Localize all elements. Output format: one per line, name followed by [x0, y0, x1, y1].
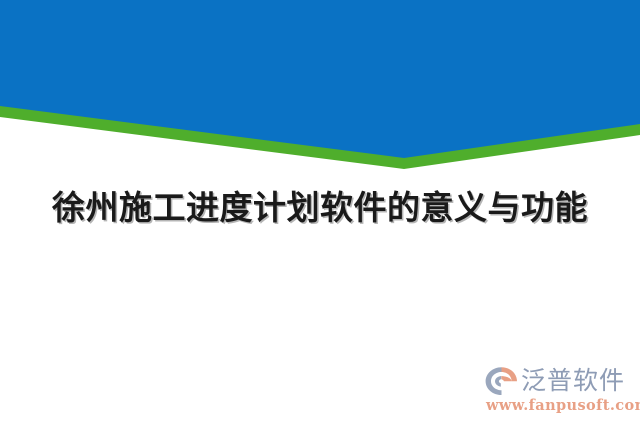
- brand-logo: 泛普软件 www.fanpusoft.com: [484, 364, 632, 422]
- brand-logo-row: 泛普软件: [484, 364, 625, 398]
- banner-blue-shape: [0, 0, 640, 158]
- brand-name: 泛普软件: [521, 367, 625, 395]
- page-title-container: 徐州施工进度计划软件的意义与功能: [0, 186, 640, 230]
- banner-green-stripe: [0, 0, 640, 169]
- brand-website: www.fanpusoft.com: [486, 397, 640, 415]
- page-title: 徐州施工进度计划软件的意义与功能: [52, 186, 588, 230]
- fanpu-wave-icon: [484, 366, 518, 396]
- slide-canvas: 徐州施工进度计划软件的意义与功能 泛普软件 www.fanpusoft.com: [0, 0, 640, 427]
- header-chevron-banner: [0, 0, 640, 180]
